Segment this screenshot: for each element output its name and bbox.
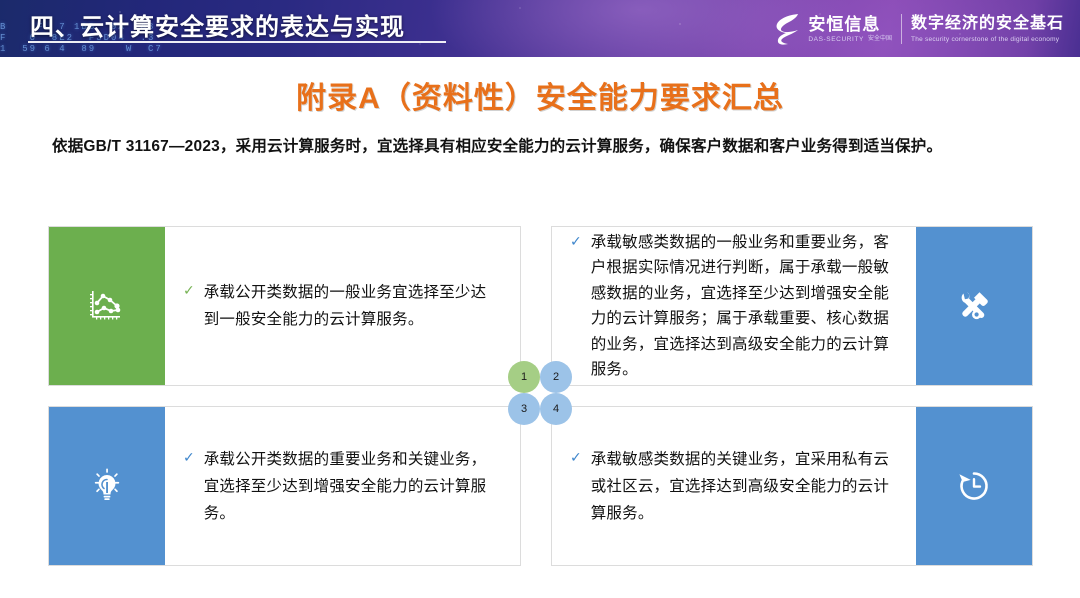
card-3-body: ✓ 承载公开类数据的重要业务和关键业务，宜选择至少达到增强安全能力的云计算服务。	[165, 407, 520, 565]
card-3-bullet: ✓ 承载公开类数据的重要业务和关键业务，宜选择至少达到增强安全能力的云计算服务。	[183, 446, 500, 527]
brand-name-en: DAS-SECURITY	[808, 35, 864, 44]
check-icon: ✓	[183, 283, 195, 297]
wrench-hammer-icon	[954, 286, 994, 326]
lightbulb-icon	[87, 466, 127, 506]
line-chart-icon	[87, 286, 127, 326]
card-1-body: ✓ 承载公开类数据的一般业务宜选择至少达到一般安全能力的云计算服务。	[165, 227, 520, 385]
slide-header: B F 7 1BB 9A A3 F 0 8E2 F3D04 .3 1 59 6 …	[0, 0, 1080, 57]
check-icon: ✓	[570, 450, 582, 464]
card-1-text: 承载公开类数据的一般业务宜选择至少达到一般安全能力的云计算服务。	[204, 279, 500, 333]
check-icon: ✓	[183, 450, 195, 464]
slogan-en: The security cornerstone of the digital …	[911, 35, 1064, 44]
lead-paragraph: 依据GB/T 31167—2023，采用云计算服务时，宜选择具有相应安全能力的云…	[52, 134, 1037, 160]
logo-divider	[901, 14, 902, 44]
card-2-text: 承载敏感类数据的一般业务和重要业务，客户根据实际情况进行判断，属于承载一般敏感数…	[591, 230, 896, 383]
page-title: 附录A（资料性）安全能力要求汇总	[0, 73, 1080, 117]
capability-card-1[interactable]: ✓ 承载公开类数据的一般业务宜选择至少达到一般安全能力的云计算服务。	[48, 226, 521, 386]
brand-name-cn: 安恒信息	[808, 15, 892, 34]
card-4-body: ✓ 承载敏感类数据的关键业务，宜采用私有云或社区云，宜选择达到高级安全能力的云计…	[552, 407, 916, 565]
step-badge-2[interactable]: 2	[540, 361, 572, 393]
section-title-underline	[28, 41, 446, 43]
step-badge-3[interactable]: 3	[508, 393, 540, 425]
capability-card-4[interactable]: ✓ 承载敏感类数据的关键业务，宜采用私有云或社区云，宜选择达到高级安全能力的云计…	[551, 406, 1033, 566]
card-4-text: 承载敏感类数据的关键业务，宜采用私有云或社区云，宜选择达到高级安全能力的云计算服…	[591, 446, 896, 527]
das-security-swoosh-icon	[773, 12, 803, 46]
section-title: 四、云计算安全要求的表达与实现	[30, 7, 405, 42]
company-logo: 安恒信息 DAS-SECURITY 安全中国 数字经济的安全基石 The sec…	[773, 6, 1064, 52]
step-badge-4[interactable]: 4	[540, 393, 572, 425]
capability-card-2[interactable]: ✓ 承载敏感类数据的一般业务和重要业务，客户根据实际情况进行判断，属于承载一般敏…	[551, 226, 1033, 386]
step-badge-cluster: 1 2 3 4	[508, 361, 572, 425]
brand-name-en-row: DAS-SECURITY 安全中国	[808, 35, 892, 44]
card-2-body: ✓ 承载敏感类数据的一般业务和重要业务，客户根据实际情况进行判断，属于承载一般敏…	[552, 227, 916, 385]
check-icon: ✓	[570, 234, 582, 248]
slogan-cn: 数字经济的安全基石	[911, 15, 1064, 33]
card-3-text: 承载公开类数据的重要业务和关键业务，宜选择至少达到增强安全能力的云计算服务。	[204, 446, 500, 527]
step-badge-1[interactable]: 1	[508, 361, 540, 393]
clock-history-icon	[954, 466, 994, 506]
card-4-icon-panel	[916, 407, 1032, 565]
card-3-icon-panel	[49, 407, 165, 565]
capability-card-3[interactable]: ✓ 承载公开类数据的重要业务和关键业务，宜选择至少达到增强安全能力的云计算服务。	[48, 406, 521, 566]
card-4-bullet: ✓ 承载敏感类数据的关键业务，宜采用私有云或社区云，宜选择达到高级安全能力的云计…	[570, 446, 896, 527]
card-2-icon-panel	[916, 227, 1032, 385]
card-1-icon-panel	[49, 227, 165, 385]
brand-badge-cn: 安全中国	[868, 35, 892, 44]
card-2-bullet: ✓ 承载敏感类数据的一般业务和重要业务，客户根据实际情况进行判断，属于承载一般敏…	[570, 230, 896, 383]
card-1-bullet: ✓ 承载公开类数据的一般业务宜选择至少达到一般安全能力的云计算服务。	[183, 279, 500, 333]
